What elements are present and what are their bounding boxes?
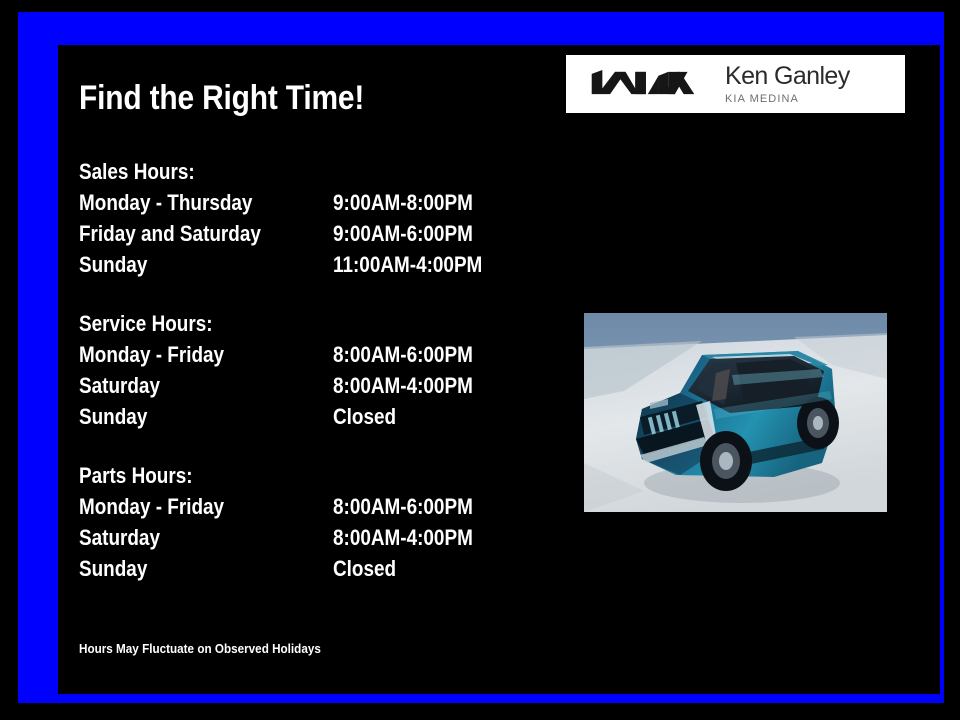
- slide-canvas: Find the Right Time! Sales Hours: Monday…: [0, 0, 960, 720]
- hours-row-time: 9:00AM-6:00PM: [333, 218, 473, 249]
- hours-row: Monday - Friday 8:00AM-6:00PM: [79, 491, 211, 522]
- page-title: Find the Right Time!: [79, 78, 364, 118]
- hours-row-day: Saturday: [79, 522, 160, 553]
- hours-row: Saturday 8:00AM-4:00PM: [79, 370, 234, 401]
- hours-row: Sunday 11:00AM-4:00PM: [79, 249, 214, 280]
- hours-row-day: Monday - Friday: [79, 339, 224, 370]
- hours-heading: Parts Hours:: [79, 460, 193, 491]
- hours-row-time: Closed: [333, 401, 396, 432]
- hours-block-service: Service Hours: Monday - Friday 8:00AM-6:…: [79, 308, 234, 432]
- dealer-name: Ken Ganley: [725, 63, 850, 89]
- hours-row-time: 9:00AM-8:00PM: [333, 187, 473, 218]
- hours-block-sales: Sales Hours: Monday - Thursday 9:00AM-8:…: [79, 156, 214, 280]
- kia-logo-icon: [583, 69, 703, 99]
- hours-row-day: Sunday: [79, 553, 147, 584]
- dealer-subtitle: KIA MEDINA: [725, 93, 850, 105]
- hours-row: Saturday 8:00AM-4:00PM: [79, 522, 211, 553]
- dealer-text-block: Ken Ganley KIA MEDINA: [725, 63, 850, 105]
- hours-row: Monday - Thursday 9:00AM-8:00PM: [79, 187, 214, 218]
- hours-row-day: Monday - Thursday: [79, 187, 252, 218]
- hours-row-day: Friday and Saturday: [79, 218, 261, 249]
- hours-row-time: 11:00AM-4:00PM: [333, 249, 482, 280]
- hours-row: Sunday Closed: [79, 401, 234, 432]
- hours-block-parts: Parts Hours: Monday - Friday 8:00AM-6:00…: [79, 460, 211, 584]
- hours-row-time: 8:00AM-6:00PM: [333, 339, 473, 370]
- holiday-disclaimer: Hours May Fluctuate on Observed Holidays: [79, 641, 321, 657]
- hours-row: Sunday Closed: [79, 553, 211, 584]
- hours-row: Monday - Friday 8:00AM-6:00PM: [79, 339, 234, 370]
- hours-row-time: 8:00AM-6:00PM: [333, 491, 473, 522]
- hours-row: Friday and Saturday 9:00AM-6:00PM: [79, 218, 214, 249]
- hours-row-day: Sunday: [79, 249, 147, 280]
- hours-row-day: Sunday: [79, 401, 147, 432]
- hours-row-day: Saturday: [79, 370, 160, 401]
- hours-row-time: 8:00AM-4:00PM: [333, 522, 473, 553]
- hours-row-day: Monday - Friday: [79, 491, 224, 522]
- kia-ev9-suv-photo: [584, 313, 887, 512]
- hours-row-time: 8:00AM-4:00PM: [333, 370, 473, 401]
- hours-heading: Service Hours:: [79, 308, 213, 339]
- hours-row-time: Closed: [333, 553, 396, 584]
- dealer-logo-panel: Ken Ganley KIA MEDINA: [566, 55, 905, 113]
- hours-heading: Sales Hours:: [79, 156, 195, 187]
